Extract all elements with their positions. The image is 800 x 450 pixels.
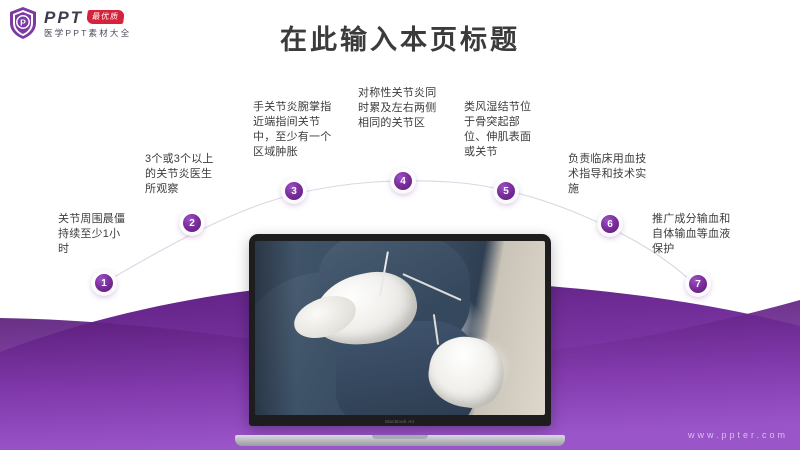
step-caption-7: 推广成分输血和自体输血等血液保护 [652,212,732,257]
laptop-base [235,435,565,446]
step-node-1[interactable]: 1 [93,272,115,294]
step-caption-4: 对称性关节炎同时累及左右两侧相同的关节区 [358,86,438,131]
laptop-lid: MacBook Air [249,234,551,426]
laptop-notch [372,435,428,439]
step-caption-6: 负责临床用血技术指导和技术实施 [568,152,652,197]
step-node-3[interactable]: 3 [283,180,305,202]
laptop-model-label: MacBook Air [249,419,551,424]
step-node-2[interactable]: 2 [181,212,203,234]
photo-edge-shadow [255,241,296,415]
slide-canvas: P PPT 最优质 医学PPT素材大全 在此输入本页标题 关节周围晨僵持续至少1… [0,0,800,450]
step-caption-1: 关节周围晨僵持续至少1小时 [58,212,130,257]
step-node-4[interactable]: 4 [392,170,414,192]
page-title: 在此输入本页标题 [0,18,800,57]
step-caption-2: 3个或3个以上的关节炎医生所观察 [145,152,223,197]
step-caption-3: 手关节炎腕掌指近端指间关节中，至少有一个区域肿胀 [253,100,333,160]
laptop-mockup: MacBook Air [235,234,565,446]
step-node-6[interactable]: 6 [599,213,621,235]
step-node-5[interactable]: 5 [495,180,517,202]
site-watermark: www.ppter.com [688,430,788,440]
step-caption-5: 类风湿结节位于骨突起部位、伸肌表面或关节 [464,100,542,160]
laptop-screen [255,241,545,415]
step-node-7[interactable]: 7 [687,273,709,295]
surgeon-gloves-photo [255,241,545,415]
